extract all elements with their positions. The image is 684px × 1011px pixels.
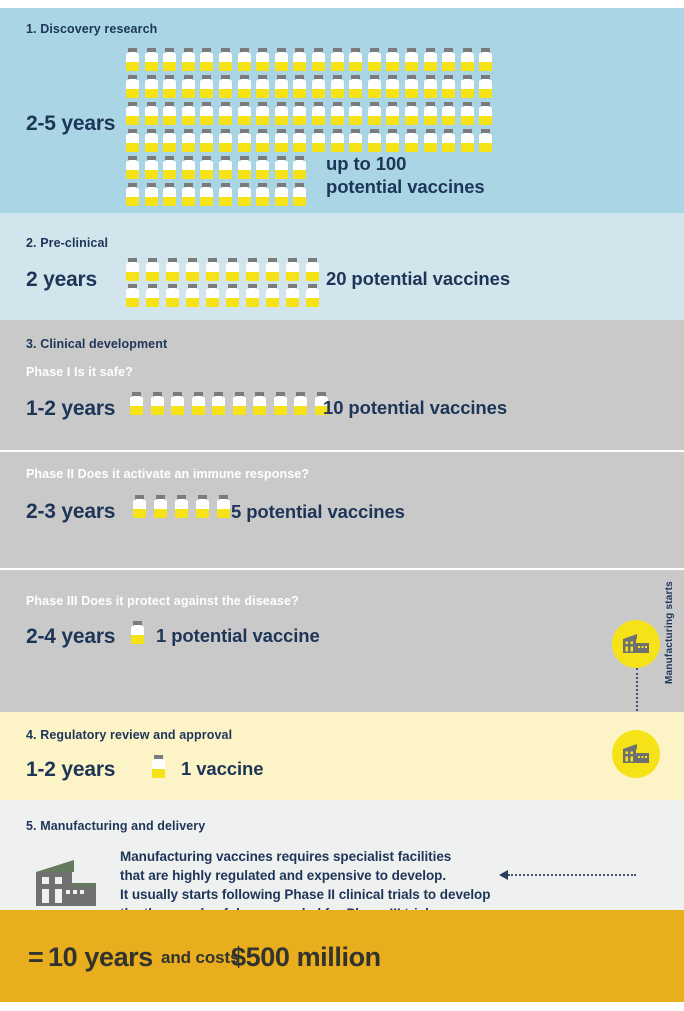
vaccine-vial-icon [266, 284, 279, 307]
vaccine-vial-icon [386, 129, 399, 152]
vaccine-vial-icon [206, 258, 219, 281]
vaccine-vial-icon [312, 129, 325, 152]
vaccine-vial-icon [405, 129, 418, 152]
vaccine-vial-icon [368, 102, 381, 125]
manufacturing-starts-label: Manufacturing starts [664, 608, 675, 684]
vaccine-vial-icon [126, 129, 139, 152]
vaccine-vial-icon [368, 129, 381, 152]
connector-horizontal-dotted [508, 874, 636, 876]
vaccine-vial-icon [238, 183, 251, 206]
vaccine-vial-icon [192, 392, 205, 415]
vaccine-vial-icon [349, 102, 362, 125]
vaccine-vial-icon [200, 102, 213, 125]
vaccine-vial-icon [145, 183, 158, 206]
vaccine-vial-icon [253, 392, 266, 415]
vaccine-vial-icon [219, 183, 232, 206]
vaccine-vial-icon [145, 75, 158, 98]
section-title-regulatory: 4. Regulatory review and approval [26, 728, 232, 742]
vaccine-vial-icon [163, 102, 176, 125]
vaccine-vial-icon [126, 48, 139, 71]
vaccine-vial-icon [275, 102, 288, 125]
vaccine-vial-icon [479, 102, 492, 125]
vaccine-vial-icon [219, 48, 232, 71]
phase-title-phase1: Phase I Is it safe? [26, 365, 133, 379]
count-label-discovery-line2: potential vaccines [326, 175, 485, 198]
vaccine-vial-icon [246, 258, 259, 281]
vaccine-vial-icon [238, 48, 251, 71]
vaccine-vial-icon [386, 75, 399, 98]
vaccine-vial-icon [196, 495, 209, 518]
vaccine-vial-icon [146, 284, 159, 307]
vial-grid-phase1 [130, 392, 335, 415]
vaccine-vial-icon [219, 102, 232, 125]
vaccine-vial-icon [126, 156, 139, 179]
vial-row [133, 495, 238, 518]
phase-title-phase2: Phase II Does it activate an immune resp… [26, 467, 309, 481]
vaccine-vial-icon [293, 129, 306, 152]
vaccine-vial-icon [405, 75, 418, 98]
section-title-manufacturing: 5. Manufacturing and delivery [26, 819, 205, 833]
duration-phase1: 1-2 years [26, 397, 115, 421]
vaccine-vial-icon [146, 258, 159, 281]
vaccine-vial-icon [163, 156, 176, 179]
vaccine-vial-icon [405, 48, 418, 71]
vaccine-vial-icon [293, 48, 306, 71]
vaccine-vial-icon [133, 495, 146, 518]
vaccine-vial-icon [386, 48, 399, 71]
connector-arrowhead [499, 870, 508, 880]
vaccine-vial-icon [306, 258, 319, 281]
phase-title-phase3: Phase III Does it protect against the di… [26, 594, 299, 608]
vaccine-vial-icon [238, 102, 251, 125]
vial-grid-phase2 [133, 495, 238, 518]
vaccine-vial-icon [275, 48, 288, 71]
vaccine-vial-icon [226, 284, 239, 307]
vaccine-vial-icon [163, 75, 176, 98]
vaccine-vial-icon [182, 48, 195, 71]
duration-phase3: 2-4 years [26, 625, 115, 649]
vaccine-vial-icon [349, 48, 362, 71]
vaccine-vial-icon [206, 284, 219, 307]
vaccine-vial-icon [186, 284, 199, 307]
vial-grid-phase3 [131, 621, 144, 644]
vaccine-vial-icon [312, 102, 325, 125]
section-regulatory-review [0, 712, 684, 800]
total-years-value: 10 years [48, 942, 153, 973]
vaccine-vial-icon [166, 284, 179, 307]
vaccine-vial-icon [217, 495, 230, 518]
vaccine-vial-icon [219, 156, 232, 179]
vaccine-vial-icon [256, 75, 269, 98]
vaccine-vial-icon [233, 392, 246, 415]
vaccine-vial-icon [182, 183, 195, 206]
vaccine-vial-icon [424, 102, 437, 125]
vaccine-vial-icon [275, 129, 288, 152]
vaccine-vial-icon [154, 495, 167, 518]
vaccine-vial-icon [442, 129, 455, 152]
vaccine-vial-icon [256, 183, 269, 206]
vaccine-vial-icon [212, 392, 225, 415]
vaccine-vial-icon [175, 495, 188, 518]
vaccine-vial-icon [131, 621, 144, 644]
vaccine-vial-icon [256, 48, 269, 71]
vial-grid-regulatory [152, 755, 165, 778]
vaccine-vial-icon [461, 129, 474, 152]
vaccine-vial-icon [256, 156, 269, 179]
vaccine-vial-icon [349, 129, 362, 152]
vaccine-vial-icon [256, 102, 269, 125]
vial-row [126, 102, 498, 125]
vaccine-vial-icon [256, 129, 269, 152]
vaccine-vial-icon [163, 48, 176, 71]
total-cost-value: $500 million [231, 942, 381, 973]
vaccine-vial-icon [219, 75, 232, 98]
vaccine-vial-icon [182, 129, 195, 152]
vaccine-vial-icon [152, 755, 165, 778]
vial-row [131, 621, 144, 644]
count-label-phase2: 5 potential vaccines [231, 501, 405, 523]
vaccine-vial-icon [166, 258, 179, 281]
total-equals-sign: = [28, 942, 43, 973]
vaccine-vial-icon [479, 48, 492, 71]
vaccine-vial-icon [200, 129, 213, 152]
vaccine-vial-icon [275, 183, 288, 206]
vial-grid-preclinical [126, 258, 326, 310]
manufacturing-start-marker-phase3 [612, 620, 660, 668]
vaccine-vial-icon [479, 129, 492, 152]
section-title-discovery: 1. Discovery research [26, 22, 157, 36]
count-label-phase3: 1 potential vaccine [156, 625, 320, 647]
total-and-costs-label: and costs [161, 948, 239, 968]
vial-row [130, 392, 335, 415]
vaccine-vial-icon [126, 258, 139, 281]
vaccine-vial-icon [130, 392, 143, 415]
vaccine-vial-icon [312, 75, 325, 98]
vaccine-vial-icon [200, 75, 213, 98]
vaccine-vial-icon [200, 48, 213, 71]
vaccine-timeline-infographic: 1. Discovery research 2-5 years [0, 0, 684, 1011]
vaccine-vial-icon [442, 102, 455, 125]
vaccine-vial-icon [182, 102, 195, 125]
vaccine-vial-icon [238, 75, 251, 98]
factory-icon [621, 743, 651, 765]
section-pre-clinical [0, 213, 684, 320]
section-title-preclinical: 2. Pre-clinical [26, 236, 108, 250]
vaccine-vial-icon [331, 129, 344, 152]
vial-row [126, 258, 326, 281]
manufacturing-start-marker-regulatory [612, 730, 660, 778]
vaccine-vial-icon [126, 75, 139, 98]
vaccine-vial-icon [424, 75, 437, 98]
vaccine-vial-icon [461, 75, 474, 98]
vaccine-vial-icon [461, 48, 474, 71]
vaccine-vial-icon [293, 75, 306, 98]
vaccine-vial-icon [171, 392, 184, 415]
vaccine-vial-icon [293, 102, 306, 125]
vaccine-vial-icon [246, 284, 259, 307]
vaccine-vial-icon [386, 102, 399, 125]
vaccine-vial-icon [275, 156, 288, 179]
vaccine-vial-icon [479, 75, 492, 98]
vaccine-vial-icon [126, 183, 139, 206]
factory-illustration [30, 856, 102, 913]
vaccine-vial-icon [163, 129, 176, 152]
vaccine-vial-icon [312, 48, 325, 71]
duration-discovery: 2-5 years [26, 112, 115, 136]
vaccine-vial-icon [200, 156, 213, 179]
vaccine-vial-icon [163, 183, 176, 206]
factory-icon [30, 856, 102, 908]
vaccine-vial-icon [331, 48, 344, 71]
vaccine-vial-icon [368, 75, 381, 98]
duration-preclinical: 2 years [26, 268, 97, 292]
vaccine-vial-icon [182, 156, 195, 179]
section-title-clinical-development: 3. Clinical development [26, 337, 167, 351]
vaccine-vial-icon [126, 284, 139, 307]
vaccine-vial-icon [368, 48, 381, 71]
count-label-phase1: 10 potential vaccines [323, 397, 507, 419]
count-label-regulatory: 1 vaccine [181, 758, 263, 780]
vaccine-vial-icon [294, 392, 307, 415]
vaccine-vial-icon [424, 48, 437, 71]
count-label-discovery-line1: up to 100 [326, 152, 406, 175]
vaccine-vial-icon [442, 48, 455, 71]
vaccine-vial-icon [200, 183, 213, 206]
vaccine-vial-icon [349, 75, 362, 98]
vial-row [126, 48, 498, 71]
vaccine-vial-icon [226, 258, 239, 281]
vaccine-vial-icon [274, 392, 287, 415]
vaccine-vial-icon [145, 102, 158, 125]
vaccine-vial-icon [126, 102, 139, 125]
vaccine-vial-icon [145, 129, 158, 152]
duration-phase2: 2-3 years [26, 500, 115, 524]
vaccine-vial-icon [293, 156, 306, 179]
vaccine-vial-icon [461, 102, 474, 125]
count-label-preclinical: 20 potential vaccines [326, 268, 510, 290]
vial-row [126, 129, 498, 152]
vial-row [126, 284, 326, 307]
vaccine-vial-icon [331, 75, 344, 98]
vial-row [126, 75, 498, 98]
vaccine-vial-icon [238, 156, 251, 179]
vaccine-vial-icon [286, 284, 299, 307]
duration-regulatory: 1-2 years [26, 758, 115, 782]
vial-row [152, 755, 165, 778]
vaccine-vial-icon [266, 258, 279, 281]
vaccine-vial-icon [145, 156, 158, 179]
vaccine-vial-icon [151, 392, 164, 415]
vaccine-vial-icon [293, 183, 306, 206]
vaccine-vial-icon [145, 48, 158, 71]
vaccine-vial-icon [442, 75, 455, 98]
vaccine-vial-icon [219, 129, 232, 152]
vaccine-vial-icon [331, 102, 344, 125]
factory-icon [621, 633, 651, 655]
vaccine-vial-icon [275, 75, 288, 98]
vaccine-vial-icon [306, 284, 319, 307]
vaccine-vial-icon [186, 258, 199, 281]
vaccine-vial-icon [405, 102, 418, 125]
vaccine-vial-icon [238, 129, 251, 152]
vaccine-vial-icon [286, 258, 299, 281]
vaccine-vial-icon [424, 129, 437, 152]
vaccine-vial-icon [182, 75, 195, 98]
